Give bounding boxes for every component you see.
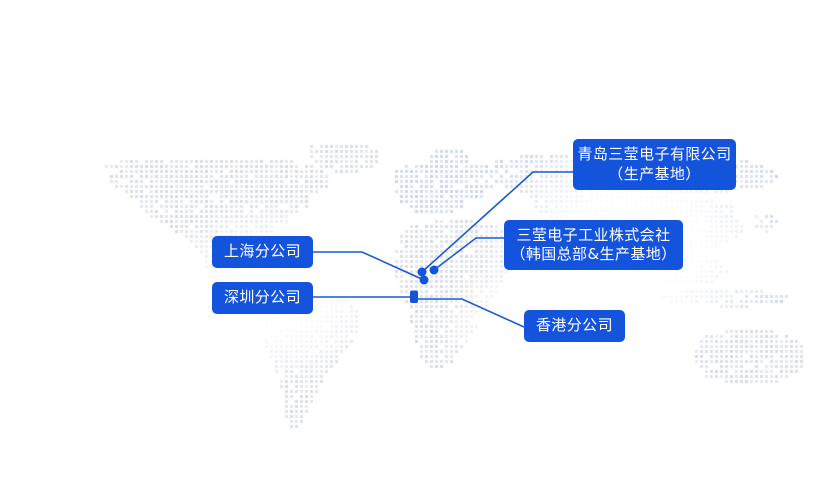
- label-korea-line2: （韩国总部&生产基地）: [510, 245, 676, 264]
- label-qingdao[interactable]: 青岛三莹电子有限公司 （生产基地）: [573, 139, 736, 190]
- label-qingdao-line1: 青岛三莹电子有限公司: [577, 145, 731, 164]
- label-qingdao-line2: （生产基地）: [608, 165, 700, 184]
- label-hongkong-line1: 香港分公司: [536, 316, 613, 335]
- label-shenzhen-line1: 深圳分公司: [224, 288, 301, 307]
- marker-korea-dot[interactable]: [430, 266, 439, 275]
- label-shenzhen[interactable]: 深圳分公司: [212, 282, 313, 314]
- world-map-dots: [0, 0, 824, 480]
- world-map-panel: 青岛三莹电子有限公司 （生产基地） 三莹电子工业株式会社 （韩国总部&生产基地）…: [0, 0, 824, 480]
- label-korea-line1: 三莹电子工业株式会社: [516, 226, 670, 245]
- label-korea-hq[interactable]: 三莹电子工业株式会社 （韩国总部&生产基地）: [504, 220, 683, 270]
- marker-hongkong-dot[interactable]: [410, 295, 418, 303]
- label-shanghai-line1: 上海分公司: [224, 242, 301, 261]
- marker-shanghai-dot[interactable]: [420, 276, 429, 285]
- label-shanghai[interactable]: 上海分公司: [212, 236, 313, 268]
- label-hongkong[interactable]: 香港分公司: [524, 310, 625, 342]
